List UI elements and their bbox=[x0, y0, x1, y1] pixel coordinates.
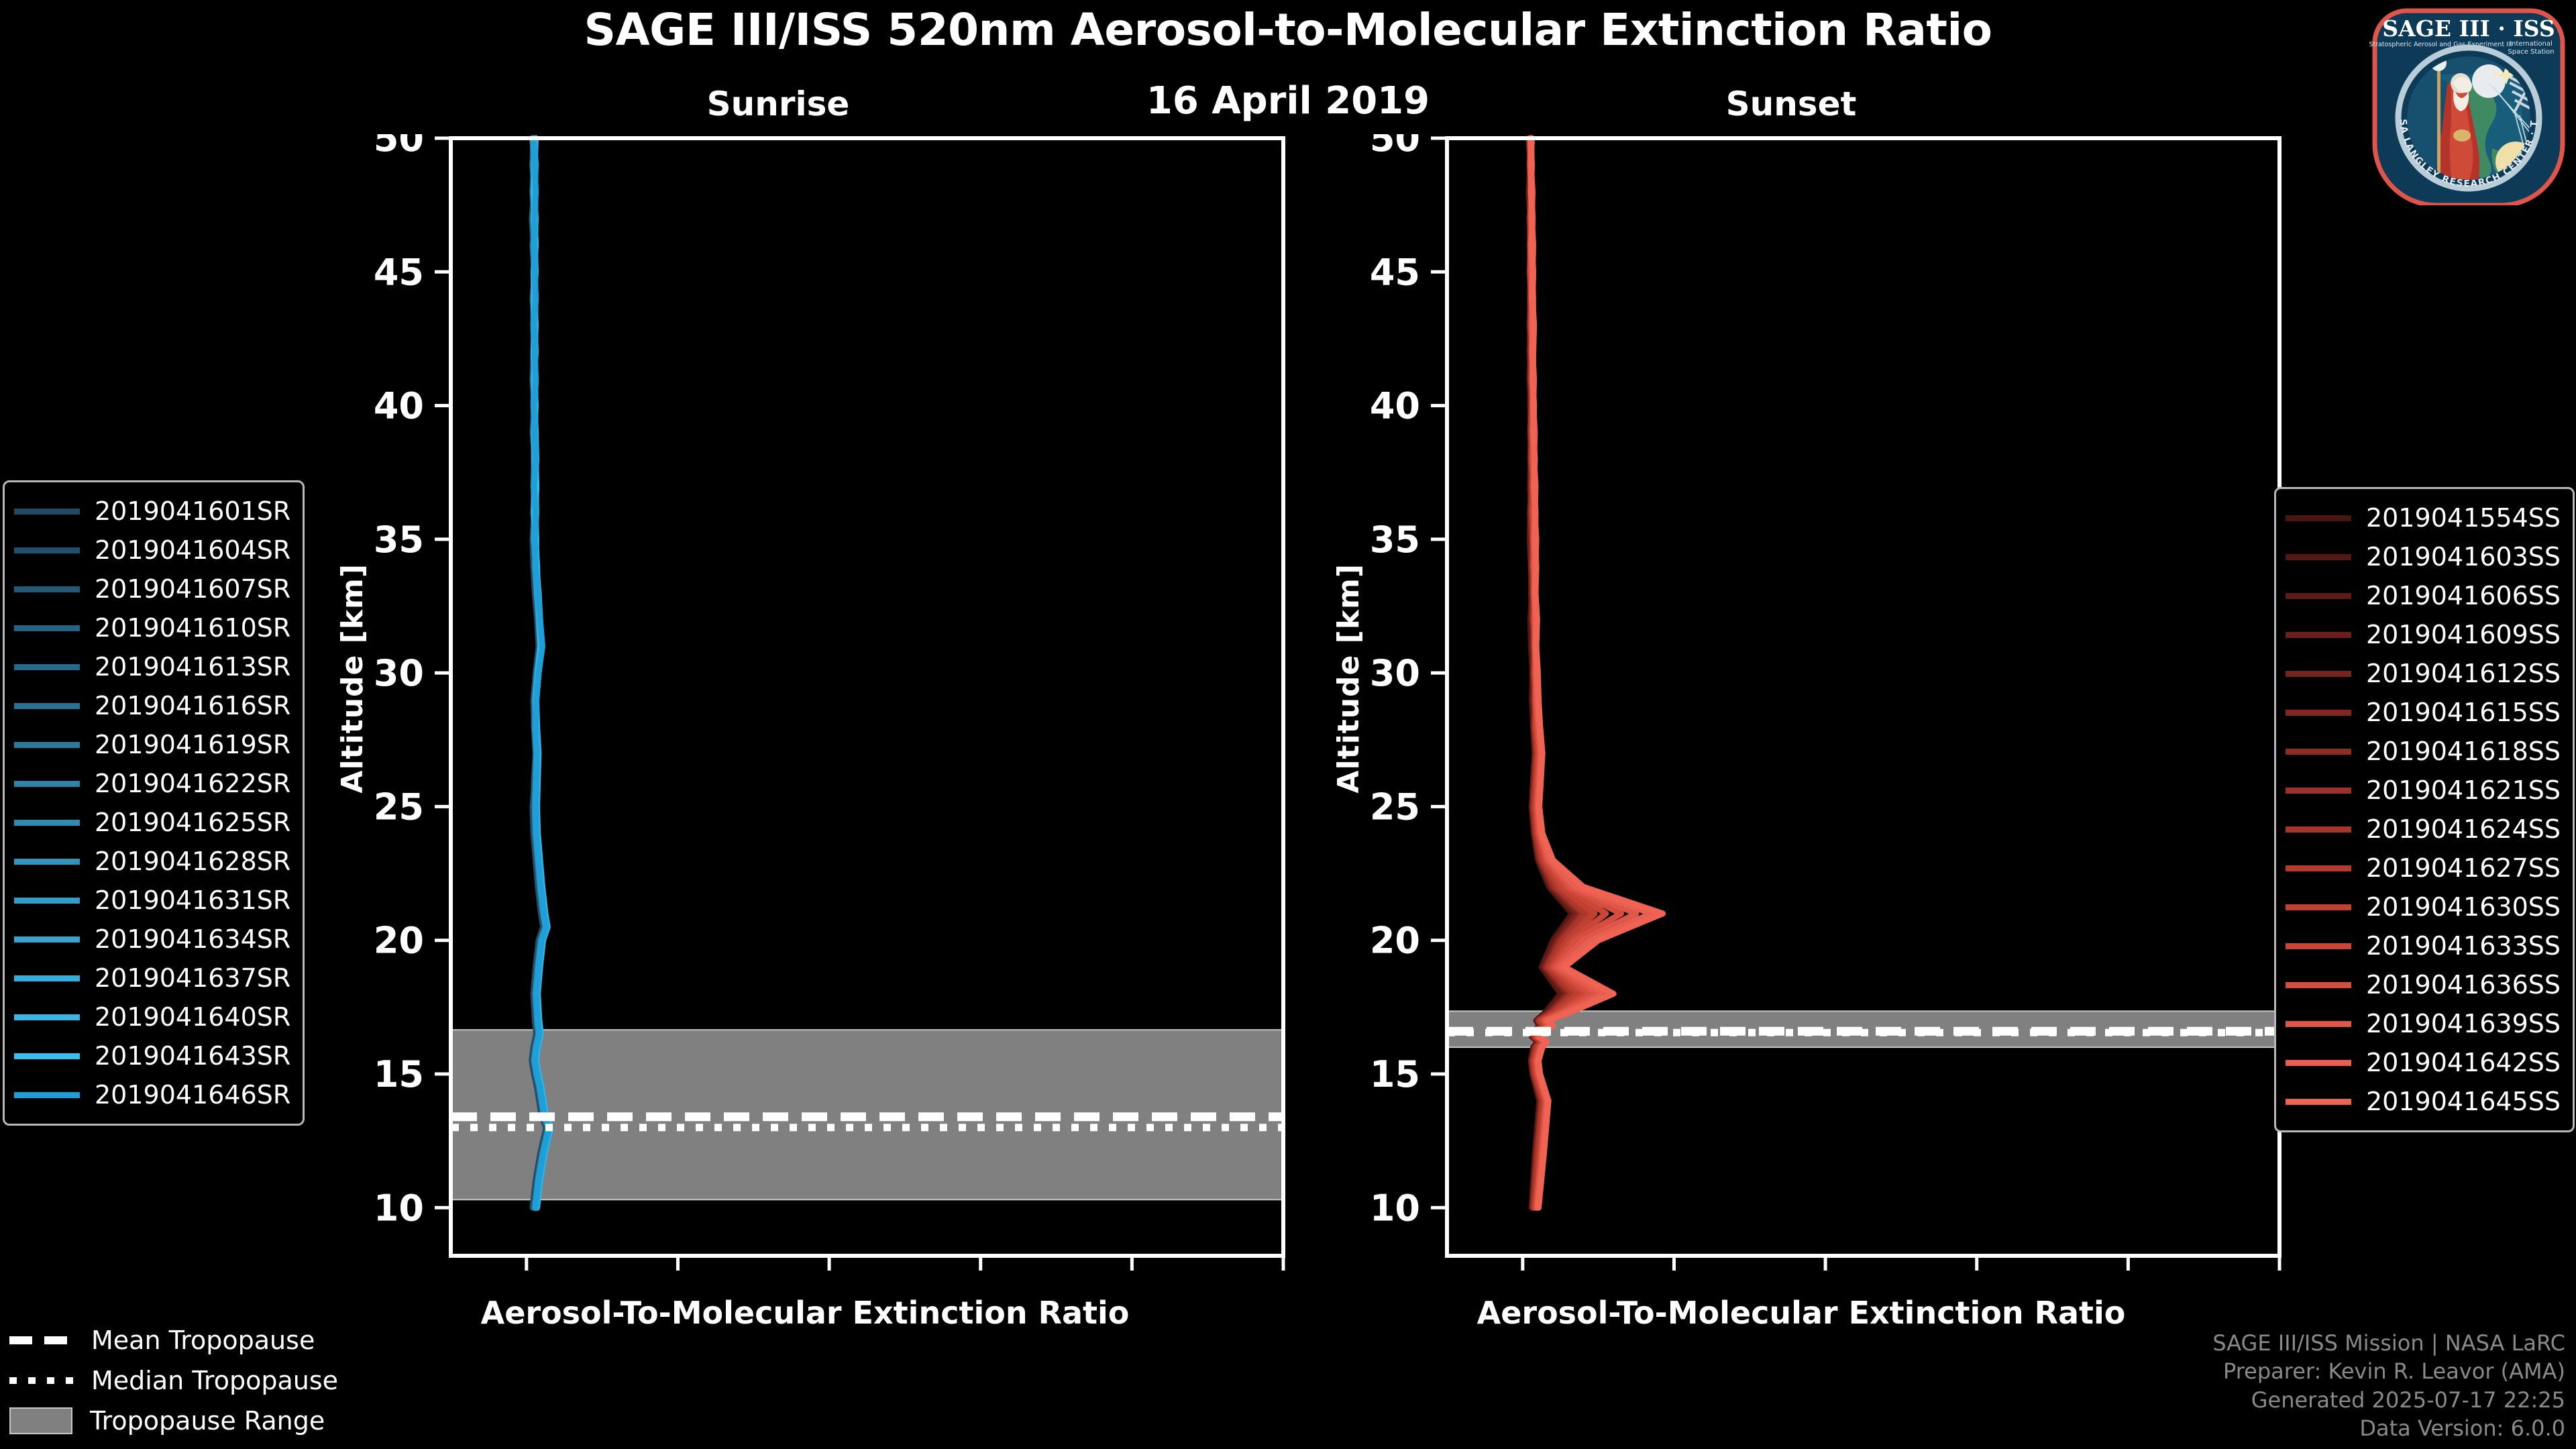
legend-item-2019041604SR[interactable]: 2019041604SR bbox=[14, 531, 290, 570]
legend-color-swatch bbox=[14, 781, 80, 787]
plot-frame bbox=[1447, 138, 2279, 1256]
legend-item-2019041642SS[interactable]: 2019041642SS bbox=[2286, 1043, 2561, 1082]
legend-color-swatch bbox=[2286, 826, 2351, 833]
legend-color-swatch bbox=[2286, 710, 2351, 716]
legend-color-swatch bbox=[2286, 515, 2351, 521]
legend-color-swatch bbox=[2286, 593, 2351, 599]
legend-item-2019041646SR[interactable]: 2019041646SR bbox=[14, 1075, 290, 1114]
sunrise-x-axis-title: Aerosol-To-Molecular Extinction Ratio bbox=[315, 1295, 1295, 1331]
legend-color-swatch bbox=[2286, 865, 2351, 871]
legend-color-swatch bbox=[14, 1092, 80, 1098]
legend-color-swatch bbox=[2286, 1099, 2351, 1105]
legend-item-2019041601SR[interactable]: 2019041601SR bbox=[14, 492, 290, 531]
legend-item-2019041619SR[interactable]: 2019041619SR bbox=[14, 725, 290, 764]
legend-color-swatch bbox=[2286, 632, 2351, 638]
legend-item-2019041639SS[interactable]: 2019041639SS bbox=[2286, 1004, 2561, 1043]
legend-label: 2019041610SR bbox=[95, 613, 290, 643]
legend-color-swatch bbox=[14, 742, 80, 748]
legend-item-2019041645SS[interactable]: 2019041645SS bbox=[2286, 1082, 2561, 1121]
legend-label: 2019041639SS bbox=[2366, 1009, 2561, 1038]
legend-label: 2019041627SS bbox=[2366, 853, 2561, 883]
line-swatch bbox=[9, 1336, 74, 1344]
y-tick-label: 20 bbox=[374, 920, 424, 962]
legend-color-swatch bbox=[14, 625, 80, 631]
page-title: SAGE III/ISS 520nm Aerosol-to-Molecular … bbox=[0, 4, 2576, 56]
legend-item-2019041637SR[interactable]: 2019041637SR bbox=[14, 959, 290, 998]
legend-item-2019041612SS[interactable]: 2019041612SS bbox=[2286, 654, 2561, 693]
legend-label: 2019041634SR bbox=[95, 924, 290, 954]
y-tick-label: 10 bbox=[1370, 1187, 1420, 1229]
sunrise-plot-svg: 020406080100101520253035404550 bbox=[315, 134, 1295, 1275]
y-tick-label: 30 bbox=[1370, 652, 1420, 694]
legend-label: 2019041637SR bbox=[95, 963, 290, 993]
sunset-plot: 020406080100101520253035404550 bbox=[1311, 134, 2291, 1277]
legend-color-swatch bbox=[14, 586, 80, 592]
legend-label: 2019041636SS bbox=[2366, 970, 2561, 1000]
y-tick-label: 15 bbox=[374, 1053, 424, 1095]
panel-label-sunset: Sunset bbox=[1644, 85, 1939, 123]
legend-color-swatch bbox=[14, 664, 80, 670]
sunrise-y-axis-title: Altitude [km] bbox=[335, 563, 370, 794]
credits-line: Preparer: Kevin R. Leavor (AMA) bbox=[2212, 1357, 2565, 1385]
legend-item-2019041625SR[interactable]: 2019041625SR bbox=[14, 803, 290, 842]
legend-item-2019041643SR[interactable]: 2019041643SR bbox=[14, 1036, 290, 1075]
legend-label: 2019041631SR bbox=[95, 885, 290, 915]
legend-color-swatch bbox=[14, 1053, 80, 1059]
legend-label: 2019041646SR bbox=[95, 1080, 290, 1110]
legend-item-2019041630SS[interactable]: 2019041630SS bbox=[2286, 888, 2561, 926]
legend-label: 2019041601SR bbox=[95, 496, 290, 526]
legend-label: 2019041603SS bbox=[2366, 542, 2561, 572]
legend-item-2019041621SS[interactable]: 2019041621SS bbox=[2286, 771, 2561, 810]
legend-label: 2019041607SR bbox=[95, 574, 290, 604]
credits-line: Data Version: 6.0.0 bbox=[2212, 1414, 2565, 1442]
observation-date: 16 April 2019 bbox=[0, 79, 2576, 123]
legend-color-swatch bbox=[2286, 554, 2351, 560]
legend-color-swatch bbox=[14, 820, 80, 826]
legend-label: 2019041633SS bbox=[2366, 931, 2561, 961]
legend-color-swatch bbox=[2286, 749, 2351, 755]
legend-color-swatch bbox=[2286, 982, 2351, 988]
credits-line: Generated 2025-07-17 22:25 bbox=[2212, 1386, 2565, 1414]
legend-item-2019041554SS[interactable]: 2019041554SS bbox=[2286, 498, 2561, 537]
sunrise-legend[interactable]: 2019041601SR2019041604SR2019041607SR2019… bbox=[3, 480, 305, 1126]
y-tick-label: 35 bbox=[374, 519, 424, 561]
legend-item-2019041640SR[interactable]: 2019041640SR bbox=[14, 998, 290, 1036]
y-tick-label: 50 bbox=[1370, 134, 1420, 160]
legend-label: 2019041622SR bbox=[95, 769, 290, 798]
legend-label: 2019041618SS bbox=[2366, 737, 2561, 766]
legend-item-2019041606SS[interactable]: 2019041606SS bbox=[2286, 576, 2561, 615]
legend-item-2019041603SS[interactable]: 2019041603SS bbox=[2286, 537, 2561, 576]
panel-label-sunrise: Sunrise bbox=[631, 85, 926, 123]
y-tick-label: 45 bbox=[374, 251, 424, 293]
legend-item-2019041610SR[interactable]: 2019041610SR bbox=[14, 608, 290, 647]
y-tick-label: 45 bbox=[1370, 251, 1420, 293]
legend-label: 2019041616SR bbox=[95, 691, 290, 720]
legend-item-2019041633SS[interactable]: 2019041633SS bbox=[2286, 926, 2561, 965]
sunrise-plot: 020406080100101520253035404550 bbox=[315, 134, 1295, 1277]
tropopause-legend-item: Mean Tropopause bbox=[9, 1320, 338, 1360]
legend-color-swatch bbox=[14, 936, 80, 943]
sunset-x-axis-title: Aerosol-To-Molecular Extinction Ratio bbox=[1311, 1295, 2291, 1331]
band-swatch bbox=[9, 1407, 72, 1434]
legend-color-swatch bbox=[14, 898, 80, 904]
legend-item-2019041631SR[interactable]: 2019041631SR bbox=[14, 881, 290, 920]
legend-item-2019041607SR[interactable]: 2019041607SR bbox=[14, 570, 290, 608]
legend-label: 2019041621SS bbox=[2366, 775, 2561, 805]
legend-color-swatch bbox=[2286, 943, 2351, 949]
legend-color-swatch bbox=[2286, 1021, 2351, 1027]
sage-iii-iss-logo: SAGE III · ISS Stratospheric Aerosol and… bbox=[2368, 4, 2569, 205]
legend-color-swatch bbox=[2286, 904, 2351, 910]
legend-color-swatch bbox=[2286, 788, 2351, 794]
legend-item-2019041613SR[interactable]: 2019041613SR bbox=[14, 647, 290, 686]
legend-color-swatch bbox=[14, 547, 80, 553]
tropopause-legend-label: Tropopause Range bbox=[90, 1406, 325, 1436]
y-tick-label: 40 bbox=[374, 385, 424, 427]
legend-label: 2019041624SS bbox=[2366, 814, 2561, 844]
legend-label: 2019041615SS bbox=[2366, 698, 2561, 727]
y-tick-label: 15 bbox=[1370, 1053, 1420, 1095]
tropopause-legend-item: Median Tropopause bbox=[9, 1360, 338, 1401]
legend-item-2019041634SR[interactable]: 2019041634SR bbox=[14, 920, 290, 959]
y-tick-label: 10 bbox=[374, 1187, 424, 1229]
legend-label: 2019041645SS bbox=[2366, 1087, 2561, 1116]
legend-color-swatch bbox=[14, 1014, 80, 1020]
legend-label: 2019041643SR bbox=[95, 1041, 290, 1071]
logo-subtitle-right-1: International bbox=[2510, 40, 2553, 48]
tropopause-legend-item: Tropopause Range bbox=[9, 1401, 338, 1441]
logo-subtitle-right-2: Space Station bbox=[2508, 48, 2554, 56]
credits-line: SAGE III/ISS Mission | NASA LaRC bbox=[2212, 1329, 2565, 1357]
legend-label: 2019041630SS bbox=[2366, 892, 2561, 922]
legend-label: 2019041604SR bbox=[95, 535, 290, 565]
legend-label: 2019041619SR bbox=[95, 730, 290, 759]
legend-color-swatch bbox=[14, 975, 80, 981]
legend-label: 2019041554SS bbox=[2366, 503, 2561, 533]
y-tick-label: 35 bbox=[1370, 519, 1420, 561]
tropopause-legend: Mean TropopauseMedian TropopauseTropopau… bbox=[9, 1320, 338, 1441]
legend-label: 2019041612SS bbox=[2366, 659, 2561, 688]
logo-title: SAGE III · ISS bbox=[2382, 15, 2555, 42]
legend-color-swatch bbox=[14, 703, 80, 709]
logo-subtitle-left: Stratospheric Aerosol and Gas Experiment… bbox=[2369, 41, 2512, 48]
legend-label: 2019041640SR bbox=[95, 1002, 290, 1032]
sunset-legend[interactable]: 2019041554SS2019041603SS2019041606SS2019… bbox=[2274, 487, 2575, 1132]
legend-label: 2019041609SS bbox=[2366, 620, 2561, 649]
legend-color-swatch bbox=[14, 508, 80, 515]
legend-label: 2019041628SR bbox=[95, 847, 290, 876]
legend-color-swatch bbox=[2286, 1060, 2351, 1066]
legend-item-2019041618SS[interactable]: 2019041618SS bbox=[2286, 732, 2561, 771]
legend-item-2019041616SR[interactable]: 2019041616SR bbox=[14, 686, 290, 725]
tropopause-legend-label: Mean Tropopause bbox=[91, 1326, 315, 1355]
legend-item-2019041615SS[interactable]: 2019041615SS bbox=[2286, 693, 2561, 732]
sunset-plot-svg: 020406080100101520253035404550 bbox=[1311, 134, 2291, 1275]
line-swatch bbox=[9, 1377, 74, 1384]
legend-item-2019041636SS[interactable]: 2019041636SS bbox=[2286, 965, 2561, 1004]
y-tick-label: 50 bbox=[374, 134, 424, 160]
tropopause-legend-label: Median Tropopause bbox=[91, 1366, 338, 1395]
legend-item-2019041609SS[interactable]: 2019041609SS bbox=[2286, 615, 2561, 654]
legend-label: 2019041642SS bbox=[2366, 1048, 2561, 1077]
sunset-y-axis-title: Altitude [km] bbox=[1332, 563, 1366, 794]
y-tick-label: 25 bbox=[374, 786, 424, 828]
y-tick-label: 25 bbox=[1370, 786, 1420, 828]
y-tick-label: 30 bbox=[374, 652, 424, 694]
y-tick-label: 40 bbox=[1370, 385, 1420, 427]
legend-item-2019041628SR[interactable]: 2019041628SR bbox=[14, 842, 290, 881]
legend-item-2019041622SR[interactable]: 2019041622SR bbox=[14, 764, 290, 803]
credits-block: SAGE III/ISS Mission | NASA LaRCPreparer… bbox=[2212, 1329, 2565, 1442]
y-tick-label: 20 bbox=[1370, 920, 1420, 962]
legend-label: 2019041606SS bbox=[2366, 581, 2561, 610]
logo-svg: SAGE III · ISS Stratospheric Aerosol and… bbox=[2368, 4, 2569, 205]
legend-label: 2019041613SR bbox=[95, 652, 290, 682]
legend-color-swatch bbox=[14, 859, 80, 865]
legend-item-2019041627SS[interactable]: 2019041627SS bbox=[2286, 849, 2561, 888]
legend-color-swatch bbox=[2286, 671, 2351, 677]
legend-label: 2019041625SR bbox=[95, 808, 290, 837]
legend-item-2019041624SS[interactable]: 2019041624SS bbox=[2286, 810, 2561, 849]
